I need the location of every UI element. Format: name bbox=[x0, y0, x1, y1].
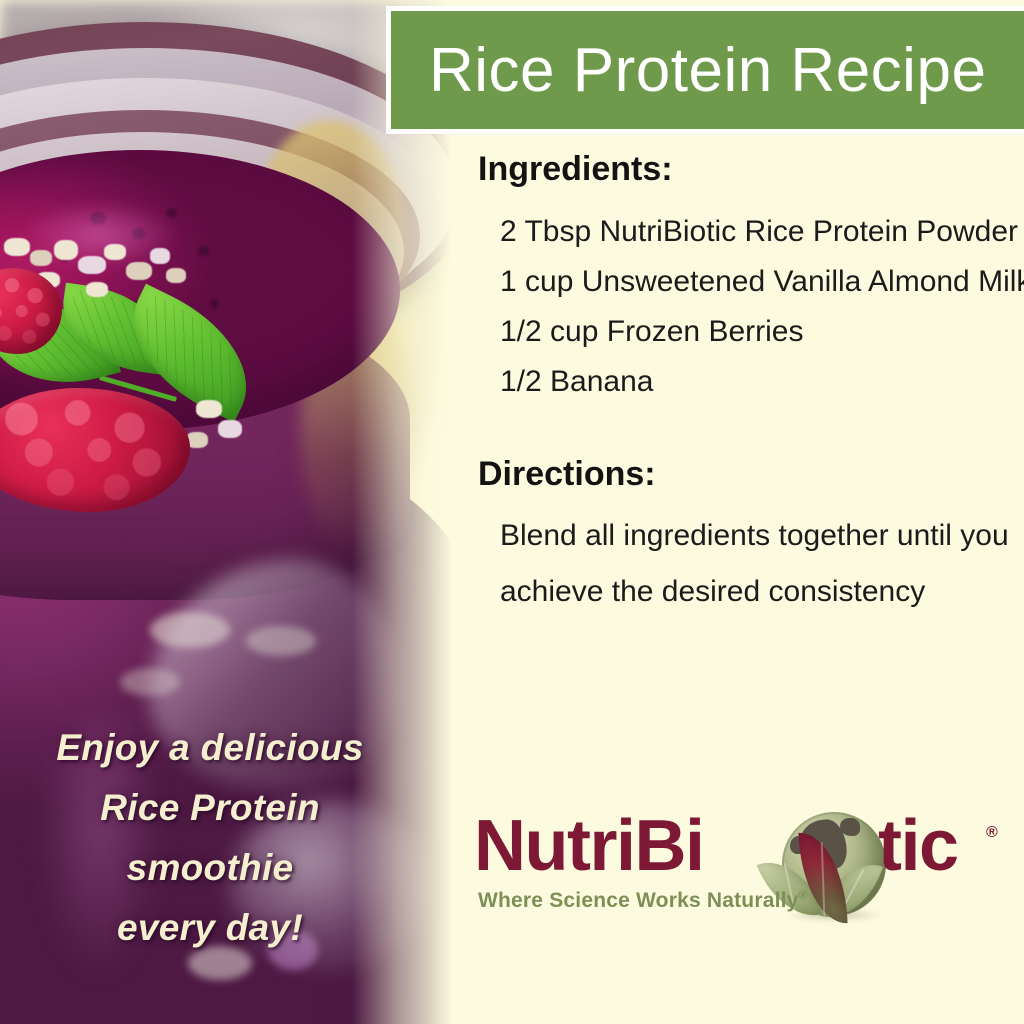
crumble-bit bbox=[54, 240, 78, 260]
directions-body: Blend all ingredients together until you… bbox=[500, 508, 1010, 620]
photo-to-panel-fade bbox=[352, 0, 452, 1024]
ingredients-list: 2 Tbsp NutriBiotic Rice Protein Powder 1… bbox=[500, 207, 1024, 407]
logo-tagline-text: Where Science Works Naturally bbox=[478, 889, 799, 912]
directions-heading: Directions: bbox=[478, 455, 1024, 494]
logo-tagline: Where Science Works Naturally® bbox=[478, 888, 808, 913]
crumble-bit bbox=[86, 282, 108, 297]
header-bar: Rice Protein Recipe bbox=[386, 6, 1024, 134]
ingredients-heading: Ingredients: bbox=[478, 150, 1024, 189]
ingredient-item: 1/2 Banana bbox=[500, 357, 1024, 407]
crumble-bit bbox=[150, 248, 170, 264]
ingredient-item: 1/2 cup Frozen Berries bbox=[500, 307, 1024, 357]
crumble-bit bbox=[4, 238, 30, 256]
crumble-bit bbox=[126, 262, 152, 280]
logo-wordmark-right: tic bbox=[878, 804, 958, 888]
logo-wordmark-left: NutriBi bbox=[474, 804, 703, 888]
logo-tagline-mark: ® bbox=[799, 888, 808, 902]
crumble-bit bbox=[104, 244, 126, 260]
directions-line-1: Blend all ingredients together until you bbox=[500, 508, 1010, 564]
nutribiotic-logo: NutriBi tic ® bbox=[474, 802, 1004, 922]
page-title: Rice Protein Recipe bbox=[391, 35, 986, 106]
recipe-content: Ingredients: 2 Tbsp NutriBiotic Rice Pro… bbox=[452, 150, 1024, 1024]
crumble-bit bbox=[218, 420, 242, 438]
recipe-poster: Enjoy a delicious Rice Protein smoothie … bbox=[0, 0, 1024, 1024]
crumble-bit bbox=[78, 256, 106, 274]
ingredient-item: 2 Tbsp NutriBiotic Rice Protein Powder bbox=[500, 207, 1024, 257]
crumble-bit bbox=[196, 400, 222, 418]
registered-trademark-mark: ® bbox=[986, 824, 998, 842]
ingredient-item: 1 cup Unsweetened Vanilla Almond Milk bbox=[500, 257, 1024, 307]
directions-line-2: achieve the desired consistency bbox=[500, 564, 1010, 620]
crumble-bit bbox=[166, 268, 186, 283]
crumble-bit bbox=[30, 250, 52, 266]
